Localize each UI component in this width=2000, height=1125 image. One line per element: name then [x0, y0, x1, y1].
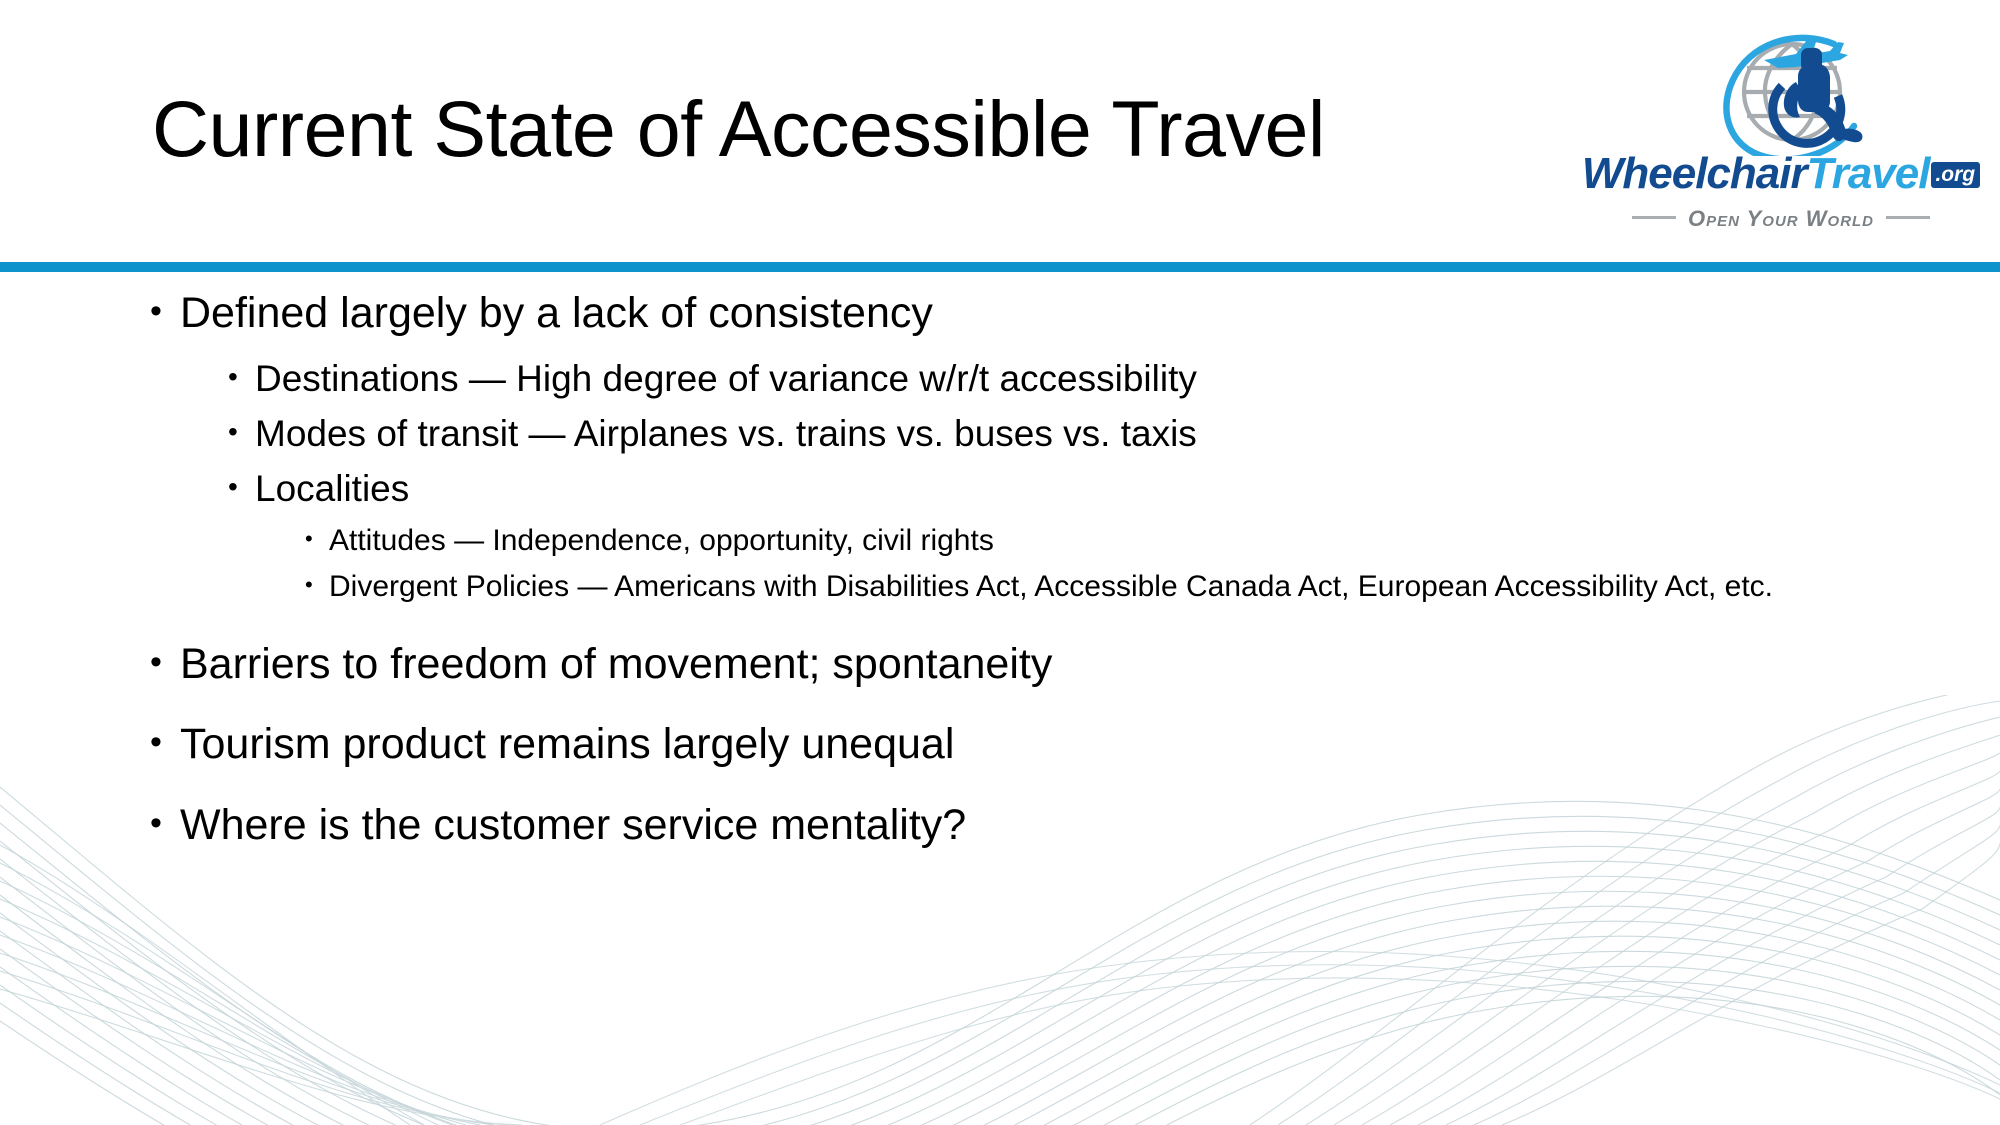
- logo-wordmark: WheelchairTravel.org: [1576, 152, 1986, 196]
- bullet-level2: • Localities: [228, 467, 1880, 510]
- bullet-marker: •: [305, 569, 329, 596]
- logo-tagline: Open Your World: [1576, 206, 1986, 232]
- bullet-marker: •: [228, 357, 255, 391]
- tagline-rule-left: [1632, 216, 1676, 219]
- bullet-level1: • Defined largely by a lack of consisten…: [150, 288, 1880, 339]
- bullet-text: Tourism product remains largely unequal: [180, 719, 1880, 770]
- bullet-marker: •: [228, 412, 255, 446]
- bullet-level1: • Tourism product remains largely unequa…: [150, 719, 1880, 770]
- logo-wordmark-wheelchair: Wheelchair: [1582, 149, 1807, 198]
- bullet-text: Barriers to freedom of movement; spontan…: [180, 639, 1880, 690]
- slide-body: • Defined largely by a lack of consisten…: [0, 288, 2000, 869]
- bullet-level2: • Destinations — High degree of variance…: [228, 357, 1880, 400]
- bullet-level1: • Barriers to freedom of movement; spont…: [150, 639, 1880, 690]
- wheelchairtravel-logo[interactable]: WheelchairTravel.org Open Your World: [1576, 24, 1986, 214]
- presentation-slide: Current State of Accessible Travel: [0, 0, 2000, 1125]
- bullet-level3: • Attitudes — Independence, opportunity,…: [305, 523, 1840, 559]
- bullet-marker: •: [228, 467, 255, 501]
- tagline-text: Open Your World: [1688, 206, 1874, 231]
- bullet-text: Where is the customer service mentality?: [180, 800, 1880, 851]
- bullet-level3: • Divergent Policies — Americans with Di…: [305, 569, 1840, 605]
- title-divider: [0, 262, 2000, 272]
- bullet-text: Destinations — High degree of variance w…: [255, 357, 1880, 400]
- bullet-marker: •: [150, 719, 180, 759]
- logo-wordmark-travel: Travel: [1807, 149, 1930, 198]
- bullet-marker: •: [150, 288, 180, 328]
- logo-wordmark-tld: .org: [1931, 162, 1980, 188]
- bullet-text: Modes of transit — Airplanes vs. trains …: [255, 412, 1880, 455]
- page-title: Current State of Accessible Travel: [152, 88, 1325, 171]
- bullet-text: Defined largely by a lack of consistency: [180, 288, 1880, 339]
- bullet-marker: •: [305, 523, 329, 550]
- bullet-level1: • Where is the customer service mentalit…: [150, 800, 1880, 851]
- bullet-level2: • Modes of transit — Airplanes vs. train…: [228, 412, 1880, 455]
- bullet-marker: •: [150, 639, 180, 679]
- bullet-text: Divergent Policies — Americans with Disa…: [329, 569, 1840, 605]
- bullet-text: Attitudes — Independence, opportunity, c…: [329, 523, 1840, 559]
- globe-wheelchair-airplane-icon: [1712, 24, 1892, 156]
- bullet-text: Localities: [255, 467, 1880, 510]
- tagline-rule-right: [1886, 216, 1930, 219]
- bullet-marker: •: [150, 800, 180, 840]
